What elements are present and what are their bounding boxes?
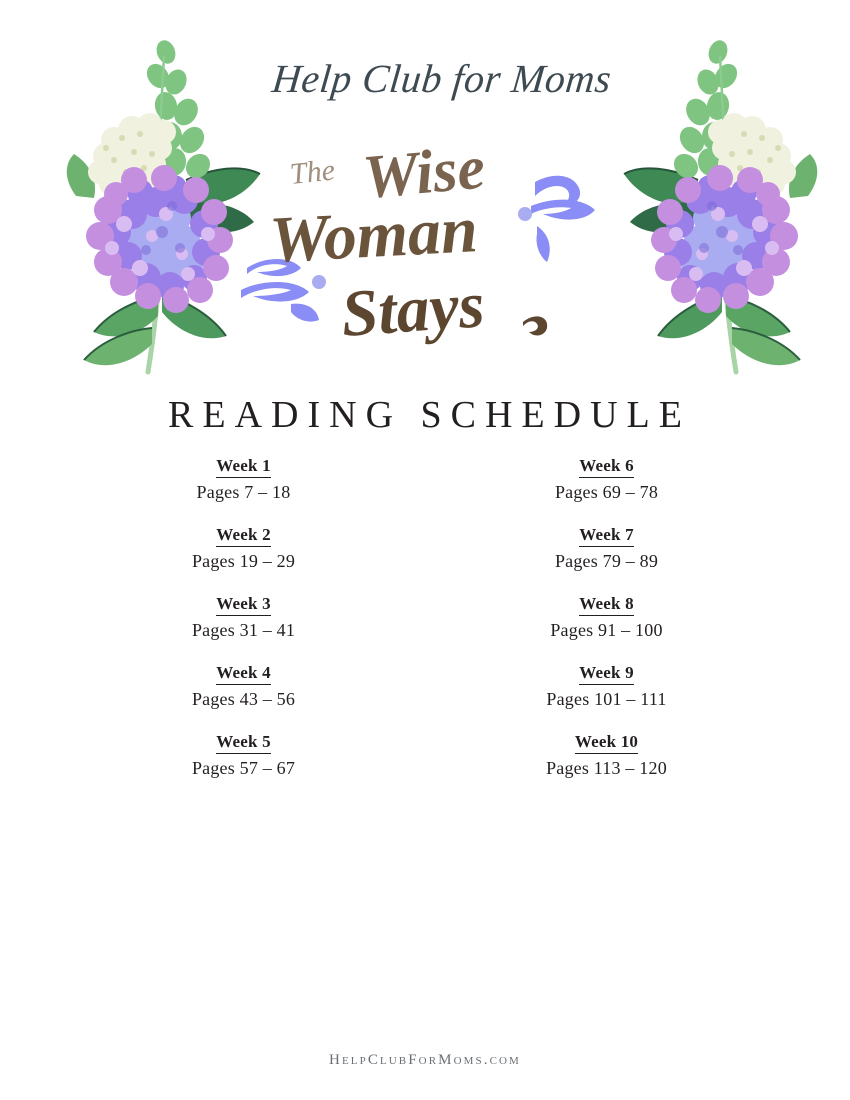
- week-pages: Pages 113 – 120: [448, 758, 765, 779]
- title-word-woman: Woman: [268, 193, 479, 277]
- schedule-entry-week-4: Week 4 Pages 43 – 56: [85, 662, 402, 731]
- footer-website: HelpClubForMoms.com: [0, 1052, 850, 1069]
- week-pages: Pages 91 – 100: [448, 620, 765, 641]
- week-pages: Pages 7 – 18: [85, 482, 402, 503]
- title-artwork: The Wise Woman Stays: [0, 140, 850, 370]
- title-word-the: The: [288, 153, 336, 191]
- page-title: READING SCHEDULE: [0, 393, 850, 437]
- week-pages: Pages 69 – 78: [448, 482, 765, 503]
- flourish-right-icon: [518, 176, 595, 262]
- schedule-entry-week-7: Week 7 Pages 79 – 89: [448, 524, 765, 593]
- reading-schedule-grid: Week 1 Pages 7 – 18 Week 6 Pages 69 – 78…: [85, 455, 765, 800]
- week-label: Week 4: [216, 662, 271, 685]
- schedule-entry-week-5: Week 5 Pages 57 – 67: [85, 731, 402, 800]
- week-pages: Pages 31 – 41: [85, 620, 402, 641]
- week-label: Week 3: [216, 593, 271, 616]
- schedule-entry-week-6: Week 6 Pages 69 – 78: [448, 455, 765, 524]
- schedule-entry-week-1: Week 1 Pages 7 – 18: [85, 455, 402, 524]
- week-label: Week 6: [579, 455, 634, 478]
- week-label: Week 10: [575, 731, 638, 754]
- week-label: Week 9: [579, 662, 634, 685]
- schedule-entry-week-8: Week 8 Pages 91 – 100: [448, 593, 765, 662]
- schedule-entry-week-9: Week 9 Pages 101 – 111: [448, 662, 765, 731]
- week-pages: Pages 43 – 56: [85, 689, 402, 710]
- printable-page: Help Club for Moms The Wise: [0, 0, 850, 1100]
- week-pages: Pages 101 – 111: [448, 689, 765, 710]
- week-pages: Pages 19 – 29: [85, 551, 402, 572]
- week-label: Week 5: [216, 731, 271, 754]
- week-label: Week 2: [216, 524, 271, 547]
- schedule-entry-week-10: Week 10 Pages 113 – 120: [448, 731, 765, 800]
- schedule-entry-week-2: Week 2 Pages 19 – 29: [85, 524, 402, 593]
- title-word-stays: Stays: [339, 268, 487, 351]
- week-label: Week 8: [579, 593, 634, 616]
- schedule-entry-week-3: Week 3 Pages 31 – 41: [85, 593, 402, 662]
- brand-logo: Help Club for Moms: [0, 48, 850, 115]
- brand-logo-text: Help Club for Moms: [269, 56, 614, 101]
- week-pages: Pages 57 – 67: [85, 758, 402, 779]
- week-label: Week 1: [216, 455, 271, 478]
- week-pages: Pages 79 – 89: [448, 551, 765, 572]
- week-label: Week 7: [579, 524, 634, 547]
